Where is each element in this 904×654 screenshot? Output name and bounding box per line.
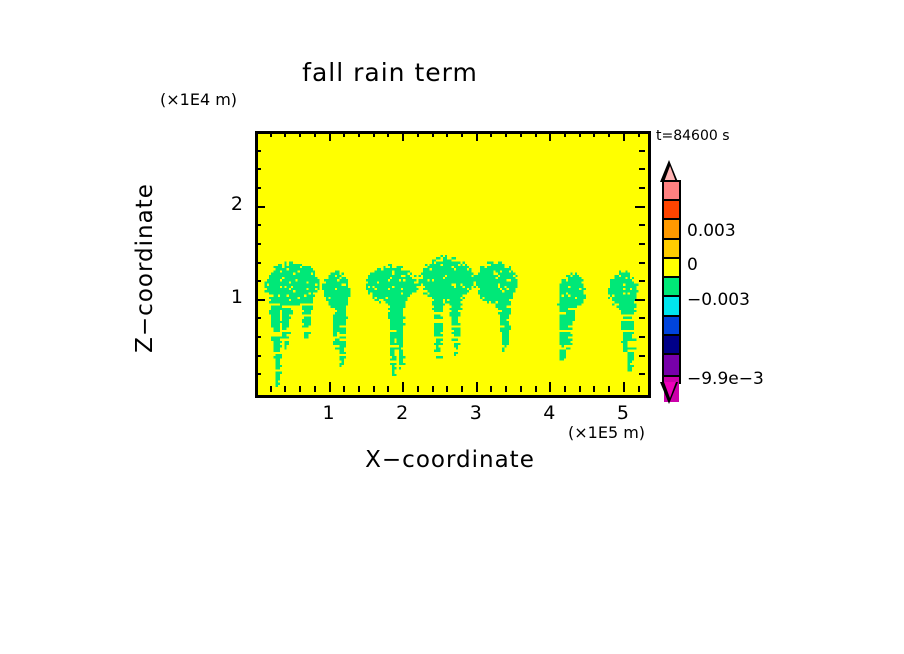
timestamp-label: t=84600 s	[656, 128, 730, 144]
y-axis-title: Z−coordinate	[132, 113, 158, 423]
colorbar-band	[664, 240, 679, 259]
x-minor-tick-top	[314, 131, 316, 137]
y-minor-tick	[255, 317, 261, 319]
x-major-tick	[549, 382, 551, 392]
x-minor-tick	[270, 386, 272, 392]
x-tick-label: 5	[603, 402, 643, 424]
y-minor-tick	[255, 187, 261, 189]
x-minor-tick-top	[358, 131, 360, 137]
x-tick-label: 2	[382, 402, 422, 424]
y-minor-tick	[255, 224, 261, 226]
colorbar-label: −9.9e−3	[687, 369, 764, 389]
x-minor-tick	[446, 386, 448, 392]
x-minor-tick-top	[490, 131, 492, 137]
colorbar-extend-down-fill	[664, 382, 676, 398]
y-minor-tick	[255, 168, 261, 170]
x-minor-tick-top	[505, 131, 507, 137]
y-major-tick-right	[635, 299, 645, 301]
colorbar-label: −0.003	[687, 290, 750, 310]
y-minor-tick-right	[639, 150, 645, 152]
x-major-tick	[402, 382, 404, 392]
x-minor-tick	[417, 386, 419, 392]
x-minor-tick	[579, 386, 581, 392]
colorbar-label: 0.003	[687, 221, 736, 241]
x-minor-tick	[638, 386, 640, 392]
y-major-tick-right	[635, 206, 645, 208]
colorbar-label: 0	[687, 255, 698, 275]
x-minor-tick	[564, 386, 566, 392]
x-minor-tick	[373, 386, 375, 392]
y-minor-tick	[255, 243, 261, 245]
x-minor-tick	[432, 386, 434, 392]
y-minor-tick-right	[639, 355, 645, 357]
y-minor-tick-right	[639, 224, 645, 226]
x-minor-tick-top	[387, 131, 389, 137]
colorbar: 0.0030−0.003−9.9e−3	[655, 160, 785, 410]
y-minor-tick	[255, 280, 261, 282]
x-minor-tick	[284, 386, 286, 392]
x-minor-tick-top	[461, 131, 463, 137]
x-minor-tick-top	[432, 131, 434, 137]
x-minor-tick-top	[299, 131, 301, 137]
y-axis-unit-label: (×1E4 m)	[160, 90, 237, 109]
y-minor-tick	[255, 150, 261, 152]
colorbar-band	[664, 220, 679, 239]
x-minor-tick-top	[270, 131, 272, 137]
x-major-tick-top	[623, 131, 625, 141]
x-minor-tick-top	[373, 131, 375, 137]
plot-area	[255, 131, 651, 398]
y-major-tick	[255, 206, 265, 208]
x-axis-title: X−coordinate	[255, 447, 645, 473]
x-minor-tick	[535, 386, 537, 392]
x-minor-tick-top	[579, 131, 581, 137]
y-minor-tick	[255, 336, 261, 338]
x-minor-tick	[387, 386, 389, 392]
y-major-tick	[255, 299, 265, 301]
x-tick-label: 1	[309, 402, 349, 424]
x-major-tick	[329, 382, 331, 392]
colorbar-band	[664, 201, 679, 220]
y-minor-tick-right	[639, 262, 645, 264]
x-minor-tick-top	[564, 131, 566, 137]
y-minor-tick	[255, 355, 261, 357]
x-axis-unit-label: (×1E5 m)	[568, 423, 645, 442]
x-minor-tick-top	[417, 131, 419, 137]
x-minor-tick	[593, 386, 595, 392]
y-minor-tick-right	[639, 168, 645, 170]
x-minor-tick	[461, 386, 463, 392]
y-minor-tick-right	[639, 280, 645, 282]
x-minor-tick-top	[446, 131, 448, 137]
x-major-tick	[623, 382, 625, 392]
y-minor-tick	[255, 262, 261, 264]
colorbar-band	[664, 182, 679, 201]
x-minor-tick	[520, 386, 522, 392]
x-minor-tick	[299, 386, 301, 392]
x-major-tick-top	[329, 131, 331, 141]
x-major-tick	[476, 382, 478, 392]
x-minor-tick-top	[284, 131, 286, 137]
figure-canvas: fall rain term (×1E4 m) t=84600 s 123451…	[0, 0, 904, 654]
x-minor-tick-top	[520, 131, 522, 137]
y-minor-tick-right	[639, 373, 645, 375]
rain-field-cells	[265, 255, 639, 387]
x-minor-tick-top	[638, 131, 640, 137]
y-tick-label: 2	[215, 193, 243, 215]
colorbar-band	[664, 259, 679, 278]
y-minor-tick-right	[639, 187, 645, 189]
heatmap-field	[258, 134, 648, 395]
colorbar-band	[664, 278, 679, 297]
y-minor-tick-right	[639, 317, 645, 319]
x-tick-label: 4	[529, 402, 569, 424]
y-minor-tick	[255, 373, 261, 375]
x-minor-tick	[314, 386, 316, 392]
colorbar-band	[664, 297, 679, 316]
y-minor-tick-right	[639, 336, 645, 338]
x-major-tick-top	[476, 131, 478, 141]
x-minor-tick	[608, 386, 610, 392]
x-major-tick-top	[549, 131, 551, 141]
x-tick-label: 3	[456, 402, 496, 424]
x-minor-tick-top	[593, 131, 595, 137]
x-minor-tick	[358, 386, 360, 392]
x-minor-tick-top	[608, 131, 610, 137]
colorbar-band	[664, 336, 679, 355]
y-minor-tick-right	[639, 243, 645, 245]
colorbar-band	[664, 317, 679, 336]
colorbar-band	[664, 355, 679, 377]
x-minor-tick-top	[535, 131, 537, 137]
x-minor-tick-top	[343, 131, 345, 137]
x-minor-tick	[505, 386, 507, 392]
x-minor-tick	[490, 386, 492, 392]
colorbar-bands	[662, 180, 681, 384]
x-major-tick-top	[402, 131, 404, 141]
x-minor-tick	[343, 386, 345, 392]
y-tick-label: 1	[215, 286, 243, 308]
page-title: fall rain term	[0, 58, 780, 87]
